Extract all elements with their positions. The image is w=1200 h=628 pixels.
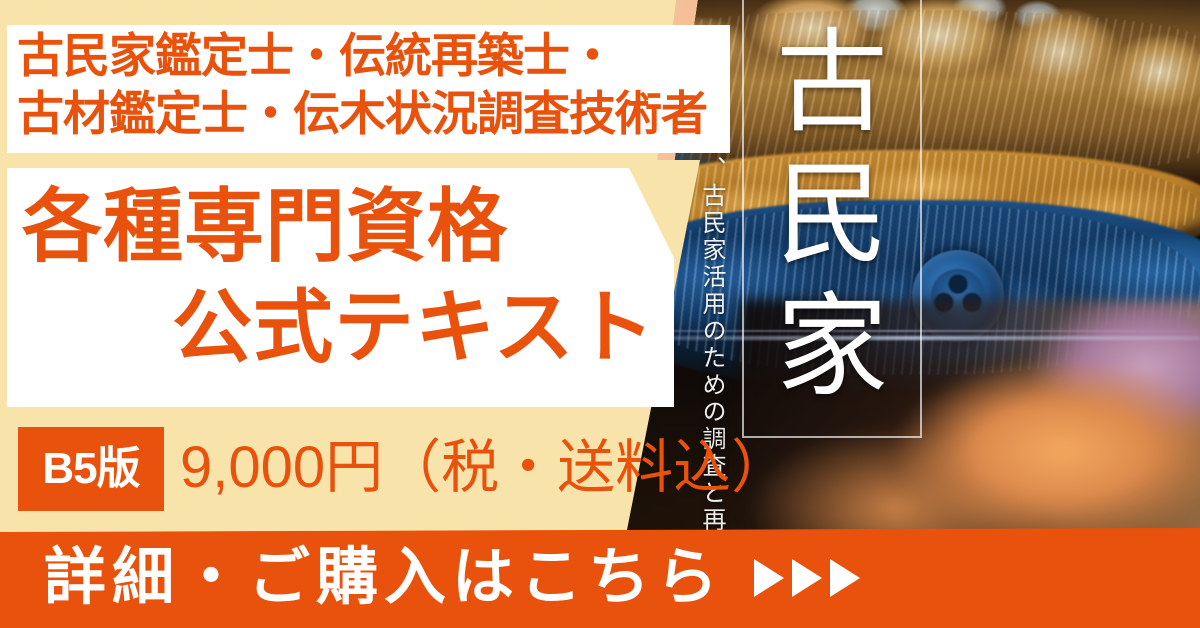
cover-title: 古 民 家 [752, 18, 912, 414]
format-badge-label: B5版 [42, 447, 139, 491]
main-title-line-2: 公式テキスト [172, 288, 656, 368]
triangle-right-icon-3 [830, 559, 860, 597]
triangle-right-icon-1 [754, 559, 784, 597]
price-text: 9,000円（税・送料込） [180, 433, 789, 503]
format-badge: B5版 [18, 427, 164, 511]
promo-banner: 古 民 家 伝統構法、古民家活用のための調査と再生の 古民家鑑定士・伝統再築士・… [0, 0, 1200, 628]
main-title-line-1: 各種専門資格 [22, 187, 508, 267]
qualifications-line-1: 古民家鑑定士・伝統再築士・ [17, 32, 615, 79]
cta-arrows [754, 559, 860, 597]
cta-bar[interactable]: 詳細・ご購入はこちら [0, 528, 1200, 628]
triangle-right-icon-2 [792, 559, 822, 597]
qualifications-line-2: 古材鑑定士・伝木状況調査技術者 [17, 90, 707, 137]
cover-title-char-3: 家 [752, 282, 912, 414]
cover-title-char-2: 民 [752, 150, 912, 282]
cover-title-char-1: 古 [752, 18, 912, 150]
cta-label: 詳細・ご購入はこちら [44, 547, 724, 609]
